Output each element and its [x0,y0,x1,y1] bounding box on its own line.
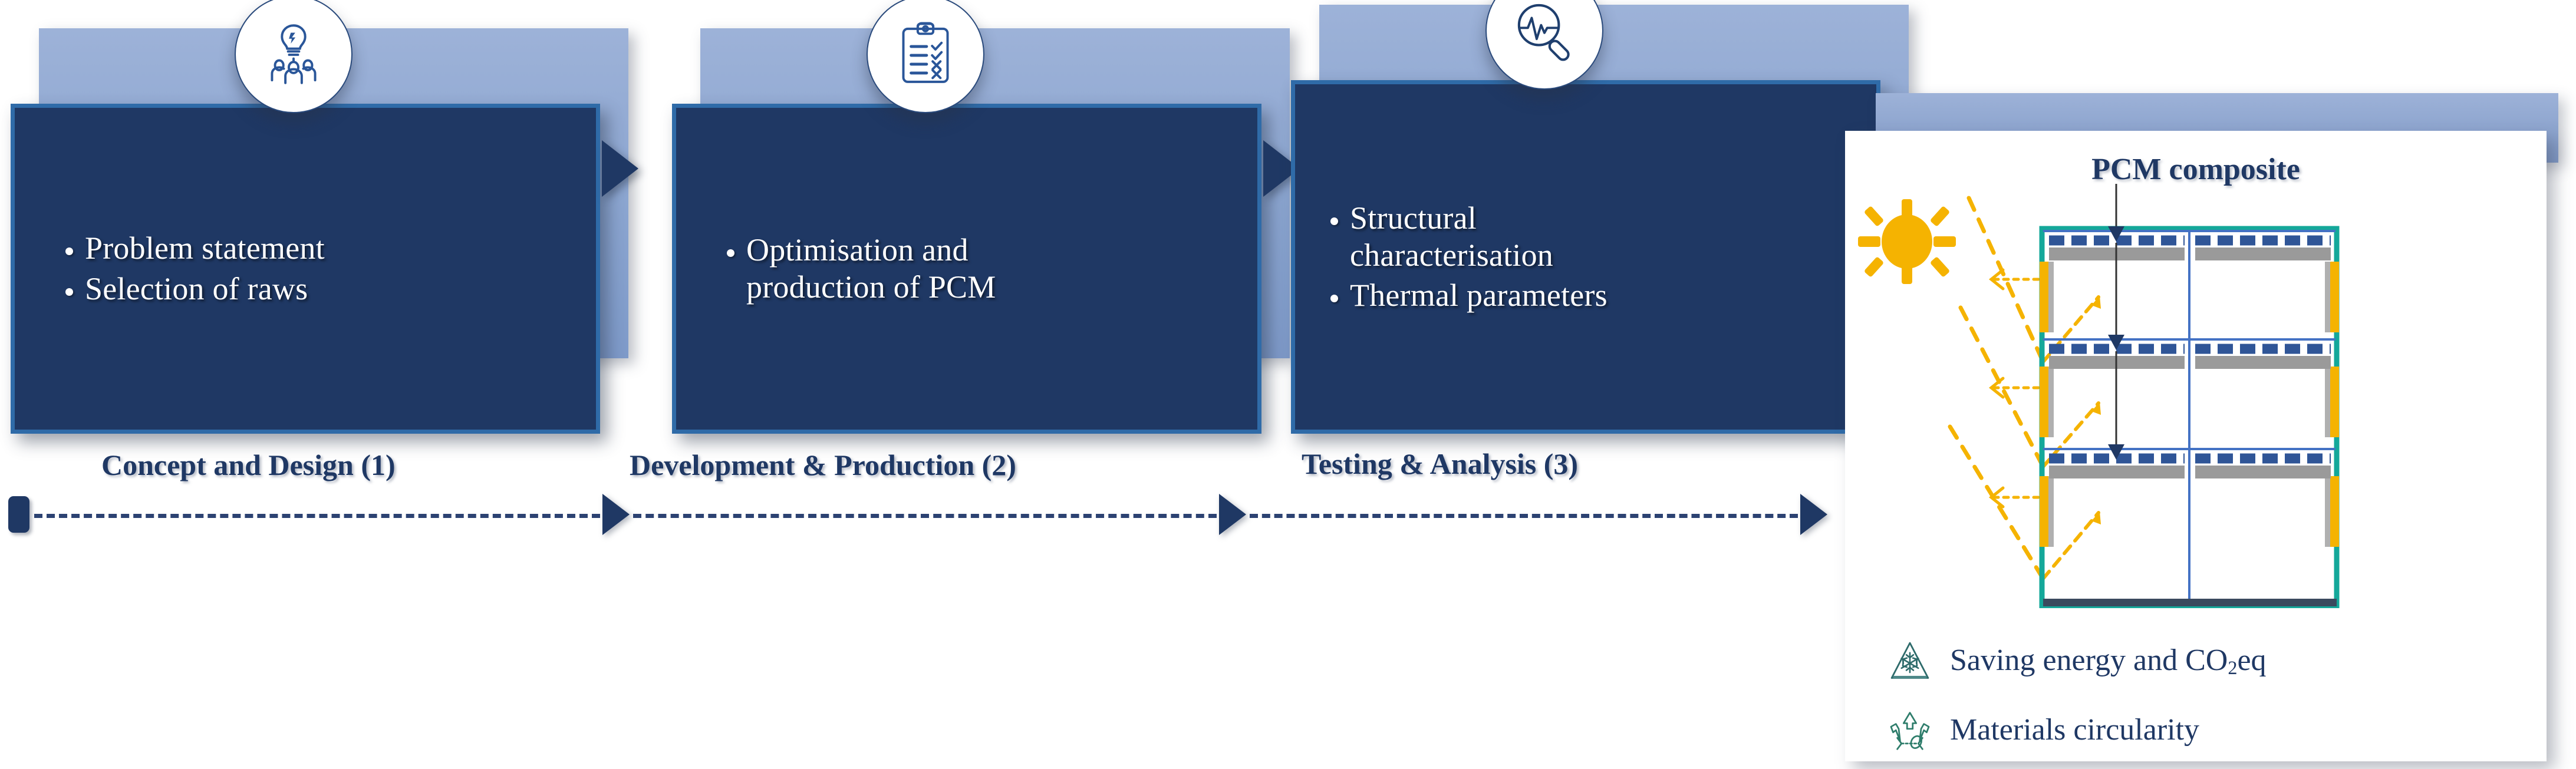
snowflake-triangle-icon [1887,639,1932,684]
magnifier-pulse-icon [1509,0,1580,66]
timeline-arrow-1-icon [602,494,630,535]
pcm-result-panel: PCM composite [1833,93,2558,765]
legend-label-energy: Saving energy and CO2eq [1950,643,2267,679]
bullet-label: Optimisation and production of PCM [746,232,996,305]
card-panel: Structural characterisation Thermal para… [1291,80,1880,434]
list-item: Structural characterisation [1330,200,1856,273]
card-content: Problem statement Selection of raws [15,108,596,430]
bullet-dot-icon [65,247,73,255]
list-item: Optimisation and production of PCM [727,232,1237,305]
timeline-segment-3 [1250,514,1798,518]
clipboard-checklist-icon [890,19,961,90]
legend-item-circularity: Materials circularity [1887,707,2199,752]
lightbulb-people-icon [258,19,329,90]
pcm-panel-surface: PCM composite [1845,131,2547,761]
legend-label-circularity: Materials circularity [1950,712,2199,747]
timeline-label-1: Concept and Design (1) [101,448,396,482]
outgoing-heat-arrows [1991,270,2038,507]
card-content: Optimisation and production of PCM [676,108,1257,430]
list-item: Problem statement [65,230,576,267]
card-panel: Problem statement Selection of raws [11,104,600,434]
recycle-icon [1887,707,1932,752]
bullet-dot-icon [727,249,734,257]
heat-flow-arrows [2108,184,2124,460]
bullet-label: Thermal parameters [1350,277,1607,314]
timeline-segment-1 [34,514,600,518]
list-item: Thermal parameters [1330,277,1856,314]
bullet-dot-icon [65,288,73,296]
timeline-arrow-2-icon [1219,494,1246,535]
timeline-segment-2 [633,514,1217,518]
timeline-start-marker [8,496,29,533]
bullet-label: Selection of raws [85,270,308,308]
timeline-arrow-3-icon [1800,494,1827,535]
next-step-chevron-icon [602,140,638,197]
step-icon-badge-1[interactable] [235,0,353,113]
timeline-label-3: Testing & Analysis (3) [1302,447,1578,481]
bullet-dot-icon [1330,295,1338,302]
step-icon-badge-2[interactable] [867,0,984,113]
bullet-label: Structural characterisation [1350,200,1553,273]
card-panel: Optimisation and production of PCM [672,104,1261,434]
building-cross-section-diagram [1845,172,2547,608]
card-content: Structural characterisation Thermal para… [1295,84,1876,430]
timeline-label-2: Development & Production (2) [630,448,1016,482]
sun-icon [1858,199,1956,284]
legend-item-energy: Saving energy and CO2eq [1887,639,2267,684]
workflow-diagram: Problem statement Selection of raws Conc… [0,0,2576,769]
bullet-dot-icon [1330,217,1338,225]
list-item: Selection of raws [65,270,576,308]
bullet-label: Problem statement [85,230,325,267]
